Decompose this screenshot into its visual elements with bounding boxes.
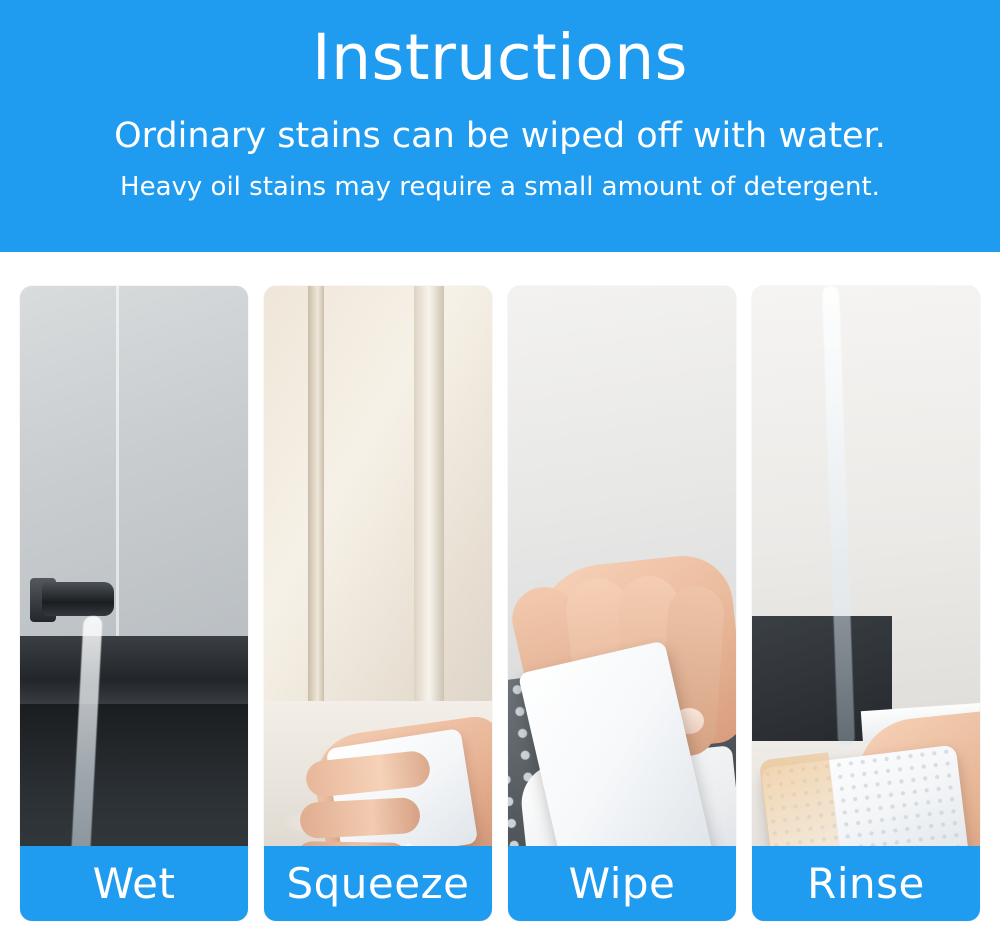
finger-middle bbox=[299, 797, 421, 839]
page-title: Instructions bbox=[0, 22, 1000, 94]
instructions-header: Instructions Ordinary stains can be wipe… bbox=[0, 0, 1000, 252]
step-card-rinse: Rinse bbox=[752, 286, 980, 921]
step-photo-rinse bbox=[752, 286, 980, 846]
cabinet-edge-left bbox=[308, 286, 324, 716]
faucet-head-icon bbox=[42, 582, 114, 616]
step-photo-wipe bbox=[508, 286, 736, 846]
cabinet-edge-right bbox=[414, 286, 444, 716]
steps-row: Wet Squeeze bbox=[0, 252, 1000, 935]
step-card-wipe: Wipe bbox=[508, 286, 736, 921]
instructions-page: Instructions Ordinary stains can be wipe… bbox=[0, 0, 1000, 935]
step-photo-squeeze bbox=[264, 286, 492, 846]
step-caption-rinse: Rinse bbox=[752, 846, 980, 921]
wall-seam bbox=[116, 286, 119, 656]
step-caption-wipe: Wipe bbox=[508, 846, 736, 921]
step-caption-squeeze: Squeeze bbox=[264, 846, 492, 921]
step-caption-wet: Wet bbox=[20, 846, 248, 921]
step-card-squeeze: Squeeze bbox=[264, 286, 492, 921]
header-subtitle-primary: Ordinary stains can be wiped off with wa… bbox=[0, 112, 1000, 160]
sink-basin bbox=[20, 704, 248, 846]
step-photo-wet bbox=[20, 286, 248, 846]
step-card-wet: Wet bbox=[20, 286, 248, 921]
header-subtitle-secondary: Heavy oil stains may require a small amo… bbox=[0, 168, 1000, 206]
